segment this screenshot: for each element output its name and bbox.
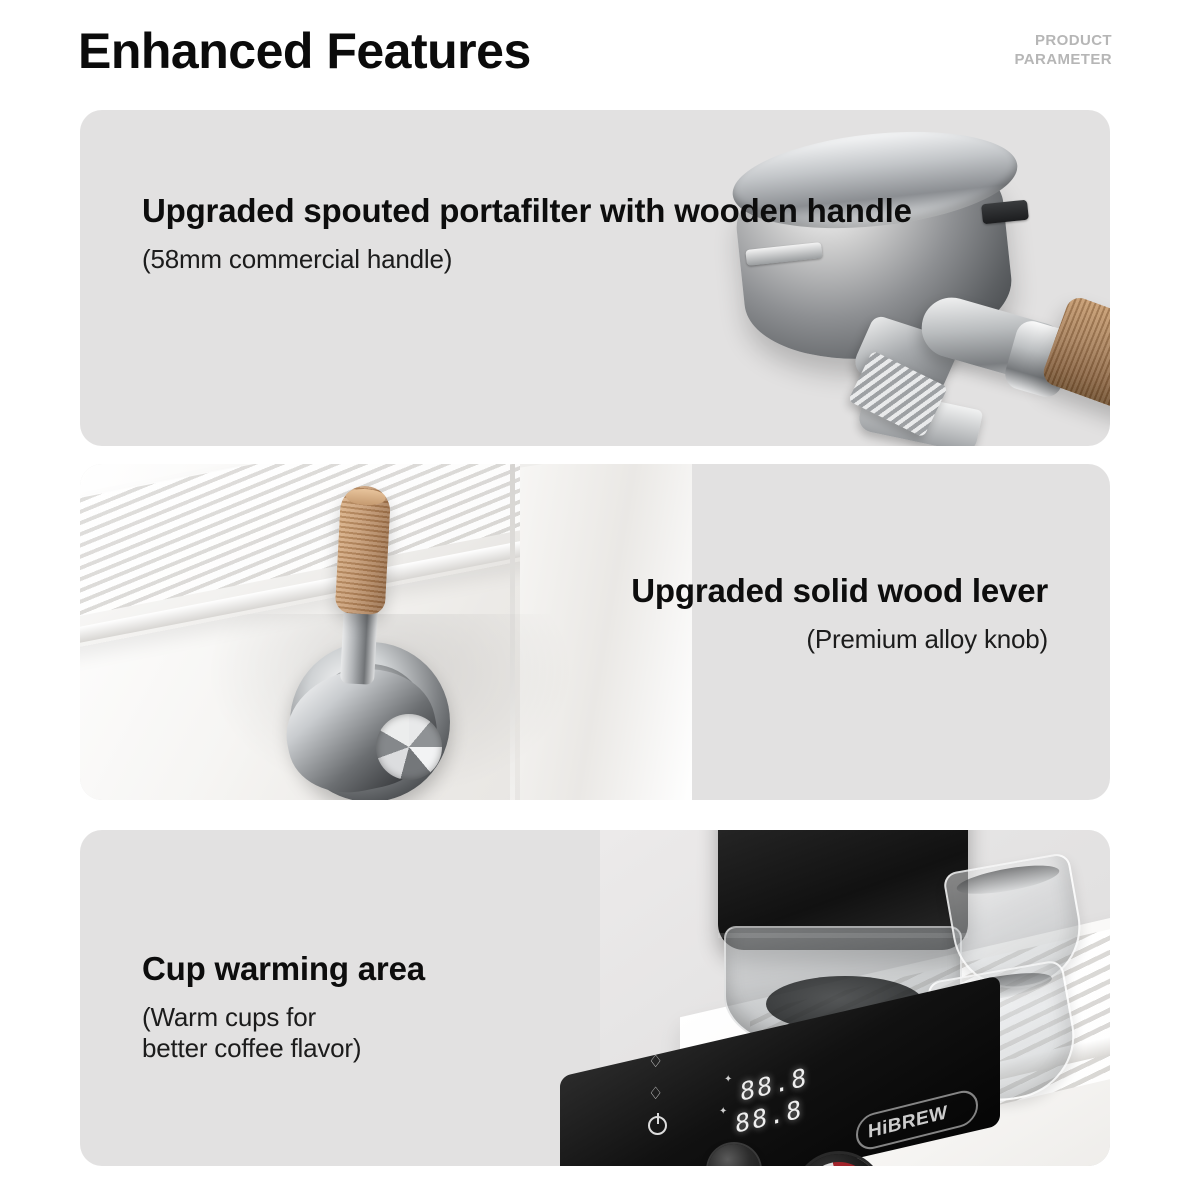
cup-warming-tray (750, 904, 1110, 1163)
brand-badge-outline (856, 1087, 979, 1153)
single-cup-icon[interactable]: ♢ (648, 1052, 663, 1072)
grinder-glass-jar (724, 926, 962, 1056)
feature-subtext: (Warm cups forbetter coffee flavor) (142, 1002, 425, 1064)
corner-label-line2: PARAMETER (1015, 51, 1113, 70)
pressure-gauge-ring (804, 1162, 874, 1166)
grinder-body (718, 830, 968, 950)
machine-top-surface (80, 464, 560, 655)
control-rotary-knob[interactable] (708, 1144, 760, 1166)
warming-cup-lower (926, 959, 1084, 1111)
valve-rosette-inner (312, 664, 428, 780)
portafilter-neck (915, 290, 1076, 389)
machine-top-ribs (80, 464, 520, 622)
wooden-lever-knob (335, 485, 392, 615)
machine-top-deck (680, 879, 1110, 1166)
display-value-bottom: 88.8 (735, 1094, 803, 1139)
grinder-jar-contents (766, 976, 924, 1032)
portafilter-illustration (710, 128, 1110, 446)
portafilter-spout (850, 314, 963, 399)
machine-top-edge (80, 530, 580, 651)
feature-card-wood-lever-text: Upgraded solid wood lever (Premium alloy… (631, 572, 1048, 655)
feature-heading: Cup warming area (142, 950, 425, 988)
warming-cup-upper (942, 852, 1090, 998)
valve-shadow (200, 614, 580, 800)
feature-card-portafilter: Upgraded spouted portafilter with wooden… (80, 110, 1110, 446)
portafilter-collar (1001, 317, 1076, 400)
portafilter-spring-clip (857, 386, 984, 446)
scene-background (600, 830, 1110, 1166)
display-value-top: 88.8 (740, 1062, 808, 1107)
portafilter-wooden-handle (1040, 294, 1110, 446)
feature-heading: Upgraded spouted portafilter with wooden… (142, 192, 912, 230)
control-panel (560, 975, 1000, 1166)
feature-heading: Upgraded solid wood lever (631, 572, 1048, 610)
feature-subtext: (58mm commercial handle) (142, 244, 912, 275)
page-title: Enhanced Features (78, 25, 531, 78)
brand-logo: HiBREW (868, 1102, 948, 1144)
valve-cone (275, 656, 447, 800)
cup-warming-image: ♢ ♢ ✦ ✦ 88.8 88.8 HiBREW (600, 830, 1110, 1166)
feature-card-cup-warming: ♢ ♢ ✦ ✦ 88.8 88.8 HiBREW Cup warming are… (80, 830, 1110, 1166)
power-icon[interactable] (648, 1116, 667, 1135)
lever-metal-stem (340, 603, 378, 685)
portafilter-lug-right (981, 200, 1029, 225)
wood-lever-image (80, 464, 680, 800)
valve-rosette (290, 642, 450, 800)
feature-card-wood-lever: Upgraded solid wood lever (Premium alloy… (80, 464, 1110, 800)
portafilter-spring (848, 350, 948, 437)
display-indicator-top: ✦ (724, 1074, 731, 1081)
feature-subtext-line2: better coffee flavor) (142, 1033, 361, 1063)
valve-fan-detail (376, 714, 442, 780)
machine-deck-lip (676, 996, 1110, 1155)
corner-label-line1: PRODUCT (1015, 32, 1113, 51)
portafilter-image (610, 110, 1110, 446)
feature-card-cup-warming-text: Cup warming area (Warm cups forbetter co… (142, 950, 425, 1064)
feature-subtext: (Premium alloy knob) (631, 624, 1048, 655)
double-cup-icon[interactable]: ♢ (648, 1084, 663, 1104)
display-indicator-bottom: ✦ (719, 1106, 726, 1113)
feature-card-portafilter-text: Upgraded spouted portafilter with wooden… (142, 192, 912, 275)
feature-subtext-line1: (Warm cups for (142, 1002, 316, 1032)
corner-label: PRODUCT PARAMETER (1015, 32, 1113, 70)
machine-side-seam (510, 464, 515, 800)
pressure-gauge (796, 1154, 882, 1166)
product-feature-page: Enhanced Features PRODUCT PARAMETER Upgr… (0, 0, 1200, 1200)
machine-body (80, 464, 680, 800)
